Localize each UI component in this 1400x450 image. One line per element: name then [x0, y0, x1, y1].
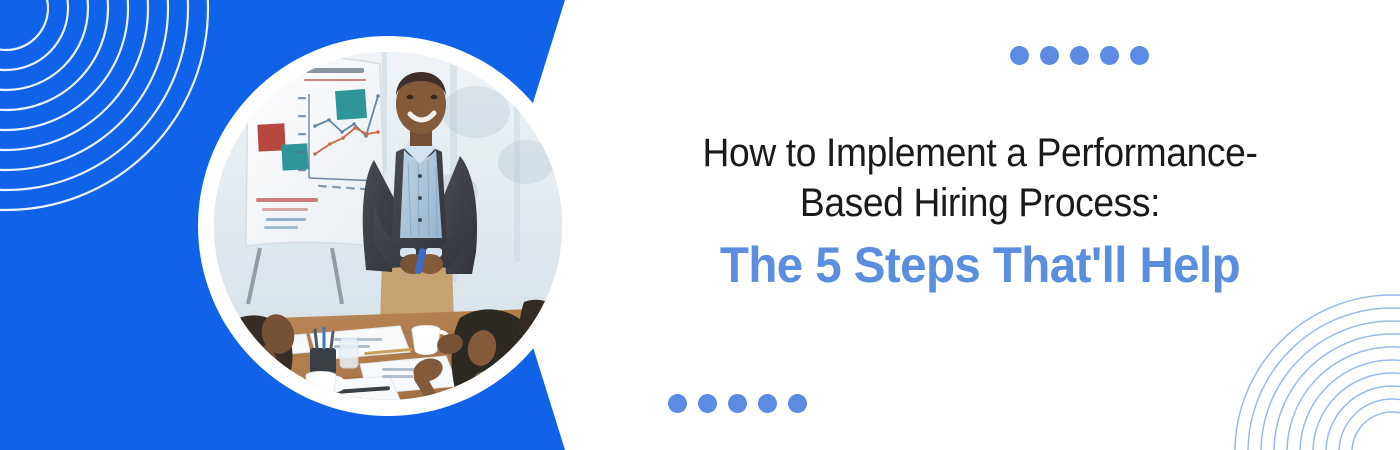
- headline-block: How to Implement a Performance- Based Hi…: [600, 128, 1360, 296]
- decorative-dot: [1010, 46, 1029, 65]
- decorative-dot: [1070, 46, 1089, 65]
- headline-accent-line: The 5 Steps That'll Help: [619, 234, 1341, 296]
- hero-photo-illustration: [214, 52, 562, 400]
- decorative-dot: [1040, 46, 1059, 65]
- decorative-dot: [1130, 46, 1149, 65]
- photo-circle-frame: [198, 36, 578, 416]
- decorative-dot: [1100, 46, 1119, 65]
- headline-line-2: Based Hiring Process:: [627, 178, 1334, 228]
- decorative-dot: [728, 394, 747, 413]
- decorative-dot: [758, 394, 777, 413]
- hero-photo: [214, 52, 562, 400]
- decorative-dot: [788, 394, 807, 413]
- dot-row-bottom: [668, 394, 807, 413]
- dot-row-top: [1010, 46, 1149, 65]
- decorative-dot: [698, 394, 717, 413]
- headline-line-1: How to Implement a Performance-: [627, 128, 1334, 178]
- hero-banner: How to Implement a Performance- Based Hi…: [0, 0, 1400, 450]
- decorative-dot: [668, 394, 687, 413]
